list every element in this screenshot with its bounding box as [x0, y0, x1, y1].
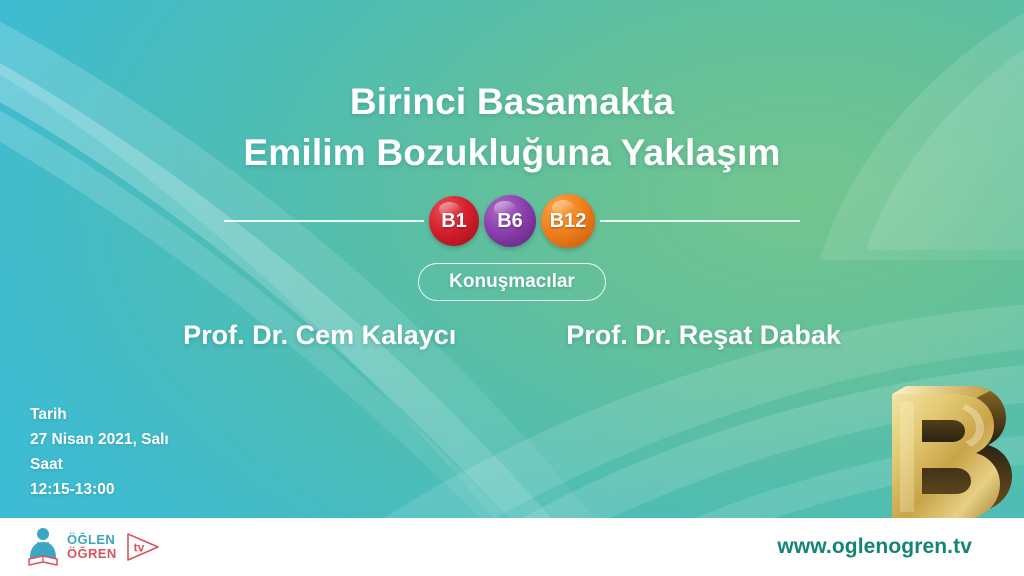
tv-label: tv: [133, 541, 144, 555]
date-value: 27 Nisan 2021, Salı: [30, 427, 169, 452]
doctor-reading-icon: [26, 527, 60, 567]
vitamin-badge-b6: B6: [484, 195, 536, 247]
time-label: Saat: [30, 452, 169, 477]
vitamin-badge-b12: B12: [541, 194, 595, 248]
time-value: 12:15-13:00: [30, 477, 169, 502]
vitamin-divider: B1 B6 B12: [0, 192, 1024, 250]
gold-letter-b-decoration: [866, 382, 1016, 522]
speakers-pill-container: Konuşmacılar: [0, 263, 1024, 301]
website-url[interactable]: www.oglenogren.tv: [777, 535, 972, 559]
tv-play-icon: tv: [126, 532, 160, 562]
speakers-pill-label: Konuşmacılar: [418, 263, 606, 301]
banner-title: Birinci Basamakta Emilim Bozukluğuna Yak…: [0, 76, 1024, 178]
brand-wordmark: ÖĞLEN ÖĞREN: [67, 533, 117, 560]
speaker-name-1: Prof. Dr. Cem Kalaycı: [183, 320, 456, 351]
footer-bar: ÖĞLEN ÖĞREN tv www.oglenogren.tv: [0, 518, 1024, 576]
brand-logo[interactable]: ÖĞLEN ÖĞREN tv: [26, 527, 160, 567]
vitamin-badge-group: B1 B6 B12: [429, 194, 595, 248]
speaker-name-2: Prof. Dr. Reşat Dabak: [566, 320, 841, 351]
webinar-banner: Birinci Basamakta Emilim Bozukluğuna Yak…: [0, 0, 1024, 576]
divider-line-left: [224, 220, 424, 222]
schedule-block: Tarih 27 Nisan 2021, Salı Saat 12:15-13:…: [30, 402, 169, 502]
vitamin-badge-b1: B1: [429, 196, 479, 246]
speaker-list: Prof. Dr. Cem Kalaycı Prof. Dr. Reşat Da…: [0, 320, 1024, 351]
date-label: Tarih: [30, 402, 169, 427]
divider-line-right: [600, 220, 800, 222]
title-line-1: Birinci Basamakta: [0, 76, 1024, 127]
brand-word-bottom: ÖĞREN: [67, 547, 117, 561]
brand-word-top: ÖĞLEN: [67, 533, 117, 547]
title-line-2: Emilim Bozukluğuna Yaklaşım: [0, 127, 1024, 178]
